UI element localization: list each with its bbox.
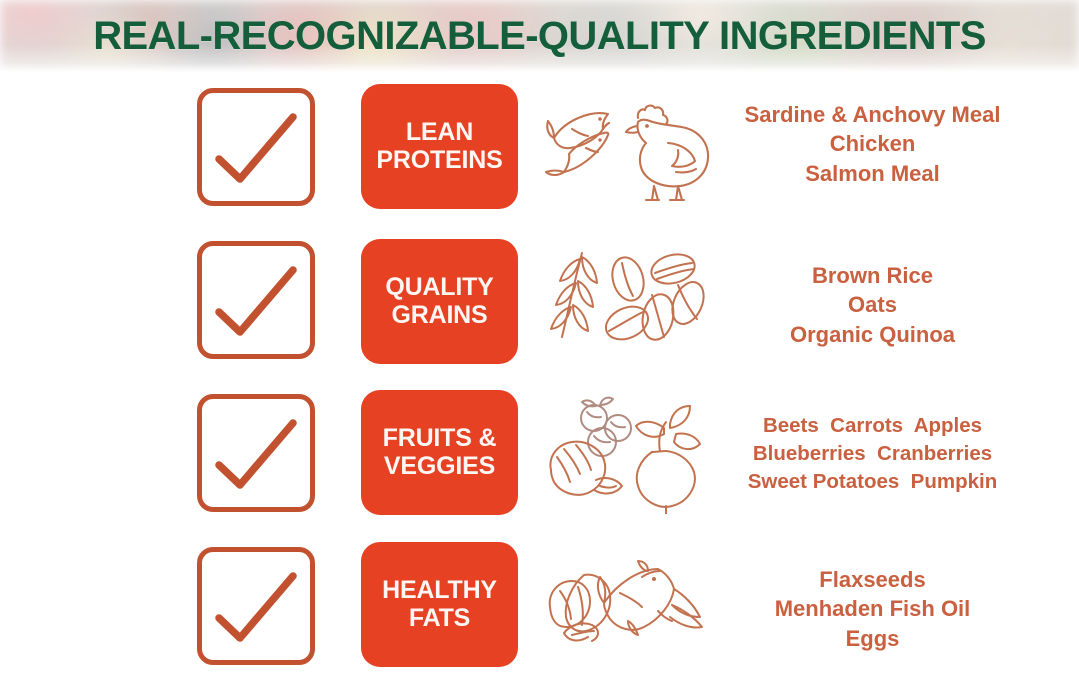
ingredient-item: Salmon Meal: [805, 159, 939, 188]
ingredient-row-fruits-veggies: FRUITS & VEGGIES: [0, 378, 1079, 531]
ingredient-item: Menhaden Fish Oil: [775, 594, 971, 623]
checkmark-icon: [202, 399, 310, 507]
icon-group-lean-proteins: [542, 88, 717, 208]
checkbox-quality-grains[interactable]: [197, 241, 315, 359]
ingredient-list-fruits-veggies: Beets Carrots Apples Blueberries Cranber…: [700, 394, 1045, 514]
wheat-stalk-icon: [551, 253, 597, 337]
badge-quality-grains[interactable]: QUALITY GRAINS: [361, 239, 518, 364]
chicken-icon: [626, 106, 708, 200]
ingredient-item: Blueberries Cranberries: [753, 440, 992, 468]
badge-line-2: FATS: [409, 605, 470, 632]
badge-line-1: LEAN: [406, 119, 473, 146]
badge-line-2: VEGGIES: [384, 453, 495, 480]
ingredient-item: Flaxseeds: [819, 565, 925, 594]
page-title: REAL-RECOGNIZABLE-QUALITY INGREDIENTS: [0, 0, 1079, 72]
ingredient-item: Beets Carrots Apples: [763, 412, 982, 440]
ingredient-list-lean-proteins: Sardine & Anchovy Meal Chicken Salmon Me…: [700, 84, 1045, 204]
badge-line-1: QUALITY: [385, 274, 493, 301]
checkbox-healthy-fats[interactable]: [197, 547, 315, 665]
checkbox-fruits-veggies[interactable]: [197, 394, 315, 512]
fish-icon: [598, 561, 702, 635]
ingredient-row-healthy-fats: HEALTHY FATS: [0, 531, 1079, 684]
fish-icon: [547, 113, 609, 148]
sweet-potato-icon: [550, 442, 622, 495]
ingredient-list-quality-grains: Brown Rice Oats Organic Quinoa: [700, 245, 1045, 365]
badge-line-1: HEALTHY: [382, 577, 497, 604]
checkmark-icon: [202, 93, 310, 201]
checkmark-icon: [202, 246, 310, 354]
ingredient-item: Sweet Potatoes Pumpkin: [748, 468, 997, 496]
ingredient-item: Eggs: [846, 624, 900, 653]
ingredient-item: Organic Quinoa: [790, 320, 955, 349]
beet-icon: [636, 406, 700, 514]
ingredient-rows: LEAN PROTEINS: [0, 72, 1079, 684]
ingredient-item: Brown Rice: [812, 261, 933, 290]
badge-line-2: PROTEINS: [376, 147, 502, 174]
badge-lean-proteins[interactable]: LEAN PROTEINS: [361, 84, 518, 209]
badge-line-1: FRUITS &: [383, 425, 497, 452]
ingredient-row-lean-proteins: LEAN PROTEINS: [0, 72, 1079, 225]
icon-group-healthy-fats: [542, 547, 717, 667]
ingredient-item: Oats: [848, 290, 897, 319]
ingredient-list-healthy-fats: Flaxseeds Menhaden Fish Oil Eggs: [700, 549, 1045, 669]
badge-fruits-veggies[interactable]: FRUITS & VEGGIES: [361, 390, 518, 515]
icon-group-quality-grains: [542, 241, 717, 361]
badge-healthy-fats[interactable]: HEALTHY FATS: [361, 542, 518, 667]
ingredient-row-quality-grains: QUALITY GRAINS: [0, 225, 1079, 378]
checkbox-lean-proteins[interactable]: [197, 88, 315, 206]
badge-line-2: GRAINS: [391, 302, 487, 329]
flaxseeds-icon: [550, 575, 611, 641]
blueberries-icon: [581, 398, 631, 456]
checkmark-icon: [202, 552, 310, 660]
icon-group-fruits-veggies: [542, 394, 717, 514]
ingredient-item: Chicken: [830, 129, 916, 158]
header-banner: REAL-RECOGNIZABLE-QUALITY INGREDIENTS: [0, 0, 1079, 72]
grain-seeds-icon: [601, 250, 710, 346]
ingredient-item: Sardine & Anchovy Meal: [745, 100, 1001, 129]
